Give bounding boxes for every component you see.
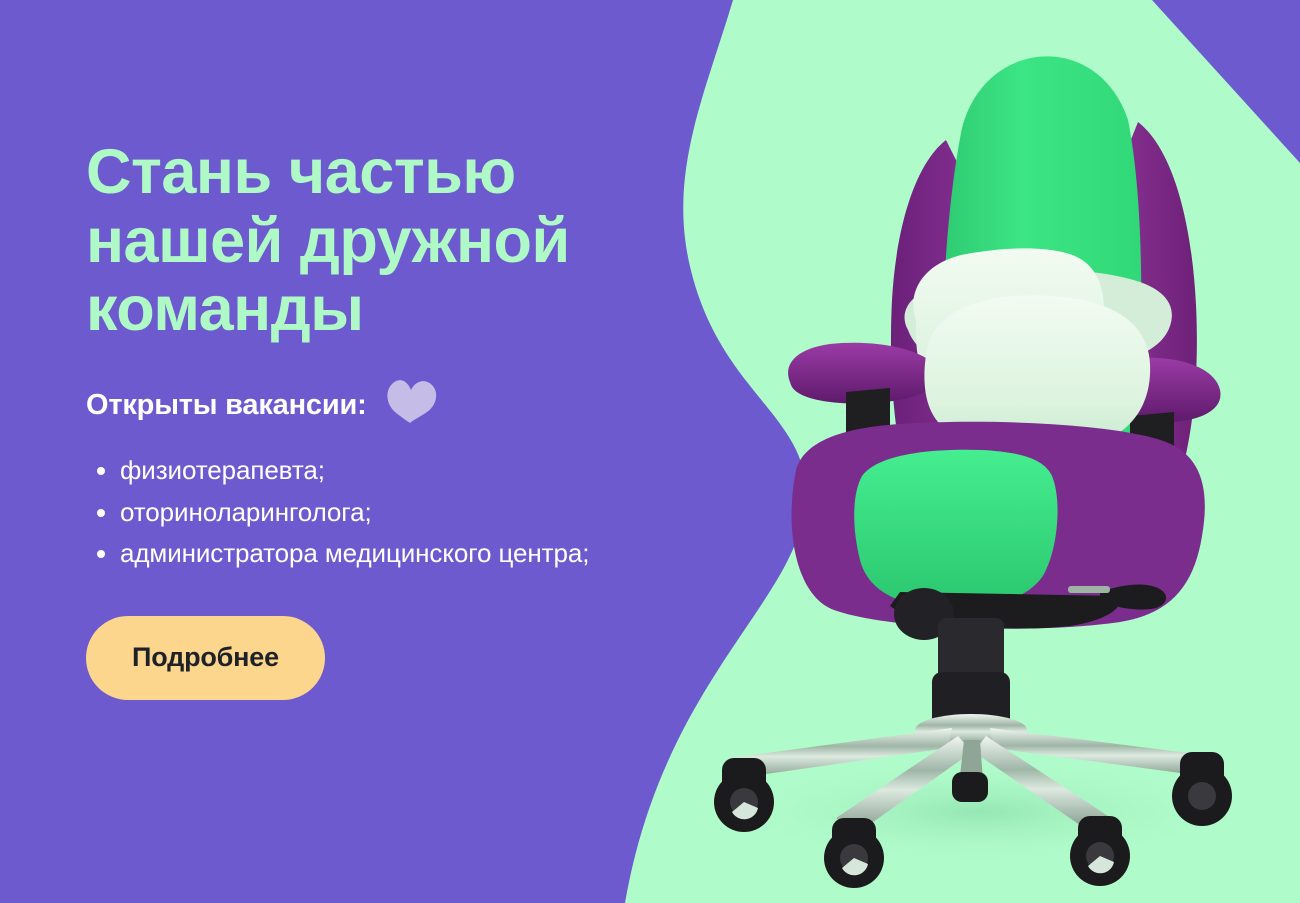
lever-shaft [1068,586,1110,593]
list-item: физиотерапевта; [86,453,706,488]
caster-right [1172,752,1232,826]
cylinder-upper [938,618,1004,680]
caster-back [952,772,988,802]
details-button[interactable]: Подробнее [86,616,325,700]
vacancies-subheading: Открыты вакансии: [86,389,367,422]
subheading-row: Открыты вакансии: [86,380,706,431]
caster-left [714,758,774,832]
gas-cylinder [932,618,1010,728]
heart-icon [383,376,439,431]
recruitment-banner: Стань частью нашей дружной команды Откры… [0,0,1300,903]
caster-front-left [824,818,884,888]
page-title: Стань частью нашей дружной команды [86,138,706,344]
list-item: администратора медицинского центра; [86,536,706,571]
office-chair-image [700,0,1260,903]
vacancy-list: физиотерапевта; оториноларинголога; адми… [86,453,706,571]
list-item: оториноларинголога; [86,495,706,530]
banner-content: Стань частью нашей дружной команды Откры… [86,138,706,700]
seat-cushion-center [854,450,1057,609]
caster-front-right [1070,816,1130,886]
